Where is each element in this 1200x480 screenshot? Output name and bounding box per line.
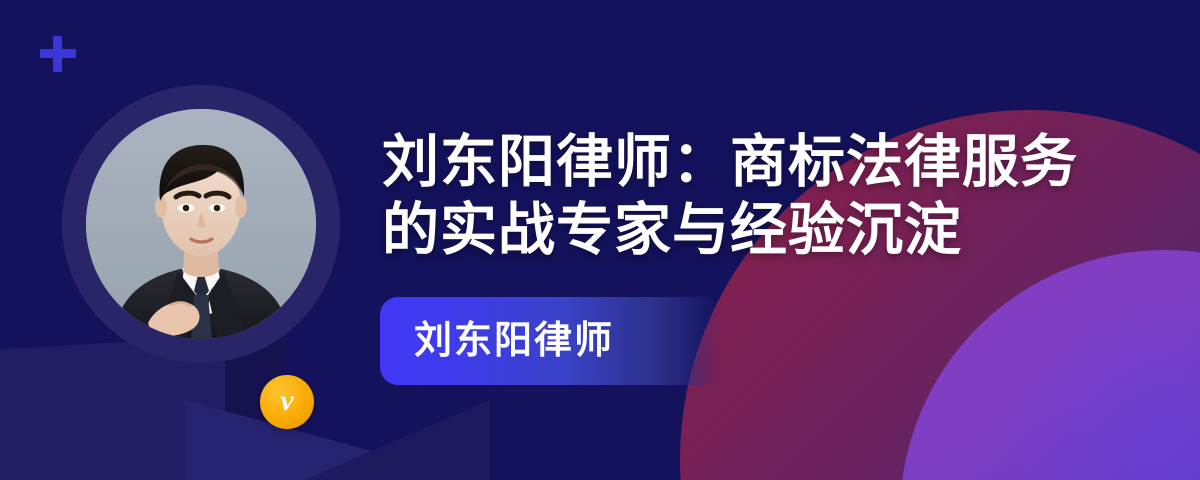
plus-icon-vertical-bar xyxy=(53,36,62,72)
page-title: 刘东阳律师：商标法律服务 的实战专家与经验沉淀 xyxy=(382,128,1082,264)
decor-glow xyxy=(1000,280,1200,480)
decor-triangle xyxy=(185,400,485,480)
decor-circle-purple xyxy=(900,250,1200,480)
avatar[interactable]: v xyxy=(62,85,340,363)
lawyer-name-label: 刘东阳律师 xyxy=(414,322,614,360)
verified-badge-glyph: v xyxy=(280,386,293,416)
plus-icon xyxy=(40,36,76,72)
decor-triangle-secondary xyxy=(300,400,490,480)
verified-badge-icon: v xyxy=(260,375,314,429)
avatar-photo xyxy=(86,109,316,339)
promo-banner: v 刘东阳律师：商标法律服务 的实战专家与经验沉淀 刘东阳律师 xyxy=(0,0,1200,480)
lawyer-name-pill[interactable]: 刘东阳律师 xyxy=(380,297,720,385)
